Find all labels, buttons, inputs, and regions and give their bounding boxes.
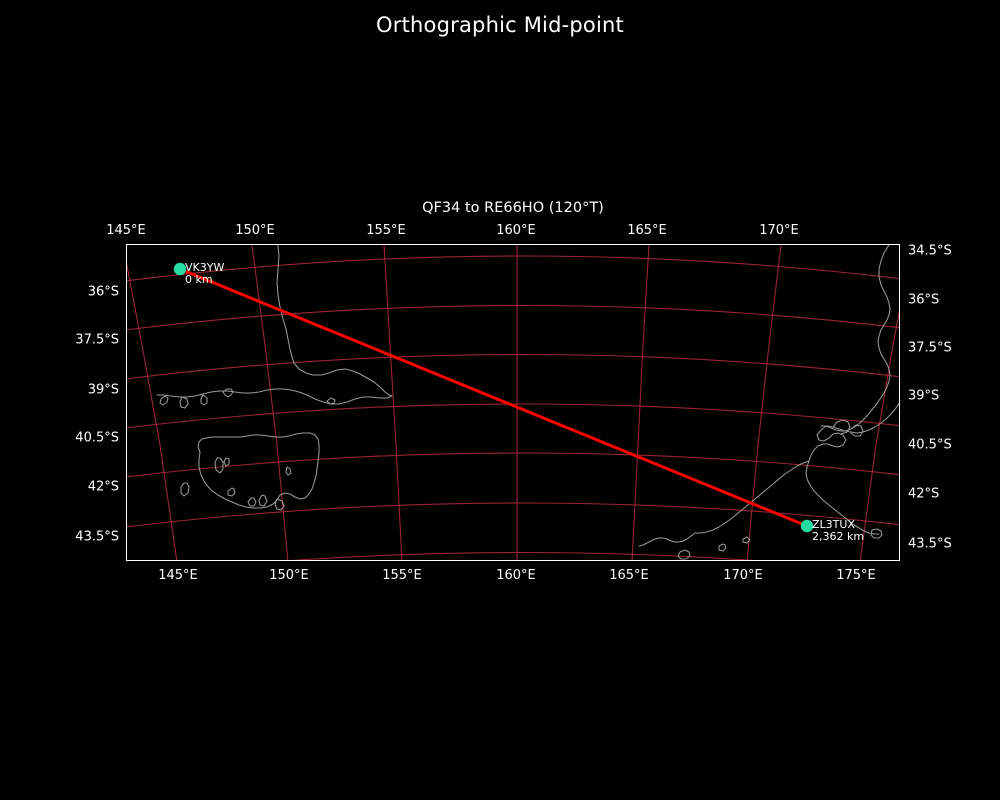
tick-left-36s: 36°S [88, 285, 119, 300]
tick-top-170e: 170°E [759, 223, 799, 238]
map-plot-area[interactable]: VK3YW 0 km ZL3TUX 2,362 km [126, 244, 900, 561]
tick-top-165e: 165°E [627, 223, 667, 238]
tick-left-42s: 42°S [88, 480, 119, 495]
tick-right-37p5s: 37.5°S [908, 341, 952, 356]
tick-right-40p5s: 40.5°S [908, 438, 952, 453]
tick-top-160e: 160°E [496, 223, 536, 238]
tick-bottom-145e: 145°E [158, 568, 198, 583]
map-svg [127, 245, 900, 561]
figure-canvas: Orthographic Mid-point QF34 to RE66HO (1… [0, 0, 1000, 800]
axes-title: QF34 to RE66HO (120°T) [126, 200, 900, 216]
destination-distance-label: 2,362 km [812, 531, 864, 543]
tick-left-40p5s: 40.5°S [75, 431, 119, 446]
tick-left-39s: 39°S [88, 383, 119, 398]
tick-left-43p5s: 43.5°S [75, 530, 119, 545]
tick-right-43p5s: 43.5°S [908, 537, 952, 552]
tick-bottom-165e: 165°E [609, 568, 649, 583]
tick-left-37p5s: 37.5°S [75, 333, 119, 348]
tick-right-42s: 42°S [908, 487, 939, 502]
tick-bottom-150e: 150°E [269, 568, 309, 583]
tick-top-145e: 145°E [106, 223, 146, 238]
coastlines [157, 245, 900, 559]
tick-bottom-170e: 170°E [723, 568, 763, 583]
tick-bottom-160e: 160°E [496, 568, 536, 583]
origin-distance-label: 0 km [185, 274, 213, 286]
figure-title: Orthographic Mid-point [0, 13, 1000, 37]
tick-bottom-175e: 175°E [836, 568, 876, 583]
tick-top-155e: 155°E [366, 223, 406, 238]
tick-right-39s: 39°S [908, 389, 939, 404]
tick-right-34p5s: 34.5°S [908, 244, 952, 259]
tick-bottom-155e: 155°E [382, 568, 422, 583]
tick-right-36s: 36°S [908, 293, 939, 308]
great-circle-path [180, 269, 807, 526]
tick-top-150e: 150°E [235, 223, 275, 238]
